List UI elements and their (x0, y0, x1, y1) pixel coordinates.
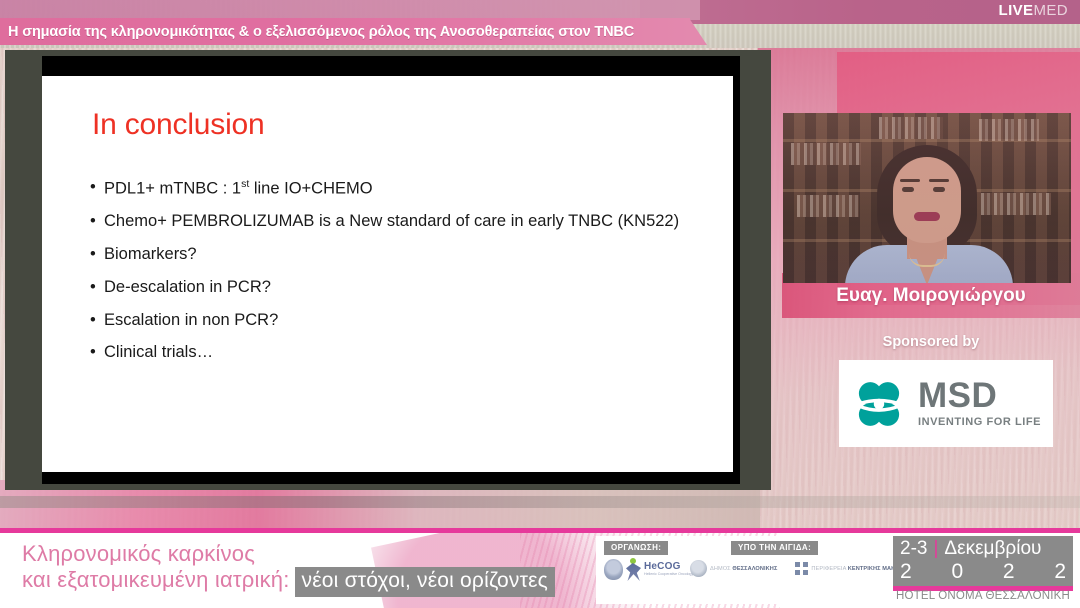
aegis-item: ΔΗΜΟΣ ΘΕΣΣΑΛΟΝΙΚΗΣ (690, 560, 777, 577)
aegis-label: ΥΠΟ ΤΗΝ ΑΙΓΙΔΑ: (731, 541, 818, 555)
bullet-marker-icon: • (90, 212, 104, 232)
aegis-0-dark: ΘΕΣΣΑΛΟΝΙΚΗΣ (732, 566, 777, 572)
aegis-0-light: ΔΗΜΟΣ (710, 566, 732, 572)
msd-tagline: INVENTING FOR LIFE (918, 416, 1041, 428)
bullet-text: Biomarkers? (104, 245, 710, 265)
livemed-logo-live: LIVE (999, 2, 1034, 19)
year-digit: 2 (1054, 560, 1066, 584)
hecog-mask-icon (604, 559, 623, 580)
event-date-day: 2-3 (900, 538, 927, 560)
msd-clover-icon (851, 376, 907, 432)
session-title-bar: Η σημασία της κληρονομικότητας & ο εξελι… (0, 18, 690, 45)
date-separator-icon: | (933, 538, 938, 560)
year-digit: 2 (1003, 560, 1015, 584)
year-digit: 2 (900, 560, 912, 584)
bullet-marker-icon: • (90, 178, 104, 199)
aegis-logos: ΔΗΜΟΣ ΘΕΣΣΑΛΟΝΙΚΗΣ ΠΕΡΙΦΕΡΕΙΑ ΚΕΝΤΡΙΚΗΣ … (690, 560, 921, 577)
aegis-1-light: ΠΕΡΙΦΕΡΕΙΑ (811, 566, 847, 572)
list-item: • De-escalation in PCR? (90, 278, 710, 298)
webinar-player: Η σημασία της κληρονομικότητας & ο εξελι… (0, 0, 1080, 608)
bullet-marker-icon: • (90, 278, 104, 298)
list-item: • Biomarkers? (90, 245, 710, 265)
bullet-marker-icon: • (90, 245, 104, 265)
bullet-text: Chemo+ PEMBROLIZUMAB is a New standard o… (104, 212, 710, 232)
event-title-line2: και εξατομικευμένη ιατρική: (22, 567, 290, 593)
bullet-text: Escalation in non PCR? (104, 311, 710, 331)
background-gray-strip (0, 496, 1080, 508)
speaker-name: Ευαγ. Μοιρογιώργου (782, 285, 1080, 307)
livemed-logo-med: MED (1033, 2, 1068, 19)
top-banner-purple-left (0, 0, 700, 20)
organizer-label: ΟΡΓΑΝΩΣΗ: (604, 541, 668, 555)
list-item: • Chemo+ PEMBROLIZUMAB is a New standard… (90, 212, 710, 232)
event-date-month: Δεκεμβρίου (944, 538, 1041, 560)
bullet-text: De-escalation in PCR? (104, 278, 710, 298)
presentation-slide[interactable]: In conclusion • PDL1+ mTNBC : 1st line I… (42, 76, 733, 472)
bullet-marker-icon: • (90, 343, 104, 363)
bullet-text: PDL1+ mTNBC : 1st line IO+CHEMO (104, 178, 710, 199)
speaker-video[interactable] (783, 113, 1071, 283)
msd-wordmark: MSD (918, 379, 997, 412)
bullet-marker-icon: • (90, 311, 104, 331)
thessaloniki-seal-icon (690, 560, 707, 577)
event-year: 2 0 2 2 (900, 560, 1066, 584)
event-title-highlight: νέοι στόχοι, νέοι ορίζοντες (295, 567, 555, 596)
page-title: Η σημασία της κληρονομικότητας & ο εξελι… (0, 24, 634, 40)
slide-bullet-list: • PDL1+ mTNBC : 1st line IO+CHEMO • Chem… (90, 178, 710, 376)
livemed-logo[interactable]: LIVEMED (999, 2, 1069, 19)
sponsored-by-label: Sponsored by (782, 334, 1080, 350)
video-pink-overlay (783, 113, 1071, 283)
sponsor-logo[interactable]: MSD INVENTING FOR LIFE (839, 360, 1053, 447)
event-title: Κληρονομικός καρκίνος και εξατομικευμένη… (22, 541, 555, 597)
event-venue: HOTEL ONOMA ΘΕΣΣΑΛΟΝΙΚΗ (893, 590, 1073, 602)
top-banner: Η σημασία της κληρονομικότητας & ο εξελι… (0, 0, 1080, 48)
year-digit: 0 (951, 560, 963, 584)
region-grid-icon (795, 562, 808, 575)
hecog-figure-icon (626, 558, 641, 581)
event-title-line1: Κληρονομικός καρκίνος (22, 541, 555, 567)
list-item: • Clinical trials… (90, 343, 710, 363)
event-date-box: 2-3 | Δεκεμβρίου 2 0 2 2 (893, 536, 1073, 586)
list-item: • PDL1+ mTNBC : 1st line IO+CHEMO (90, 178, 710, 199)
slide-heading: In conclusion (92, 108, 265, 142)
bullet-text: Clinical trials… (104, 343, 710, 363)
list-item: • Escalation in non PCR? (90, 311, 710, 331)
